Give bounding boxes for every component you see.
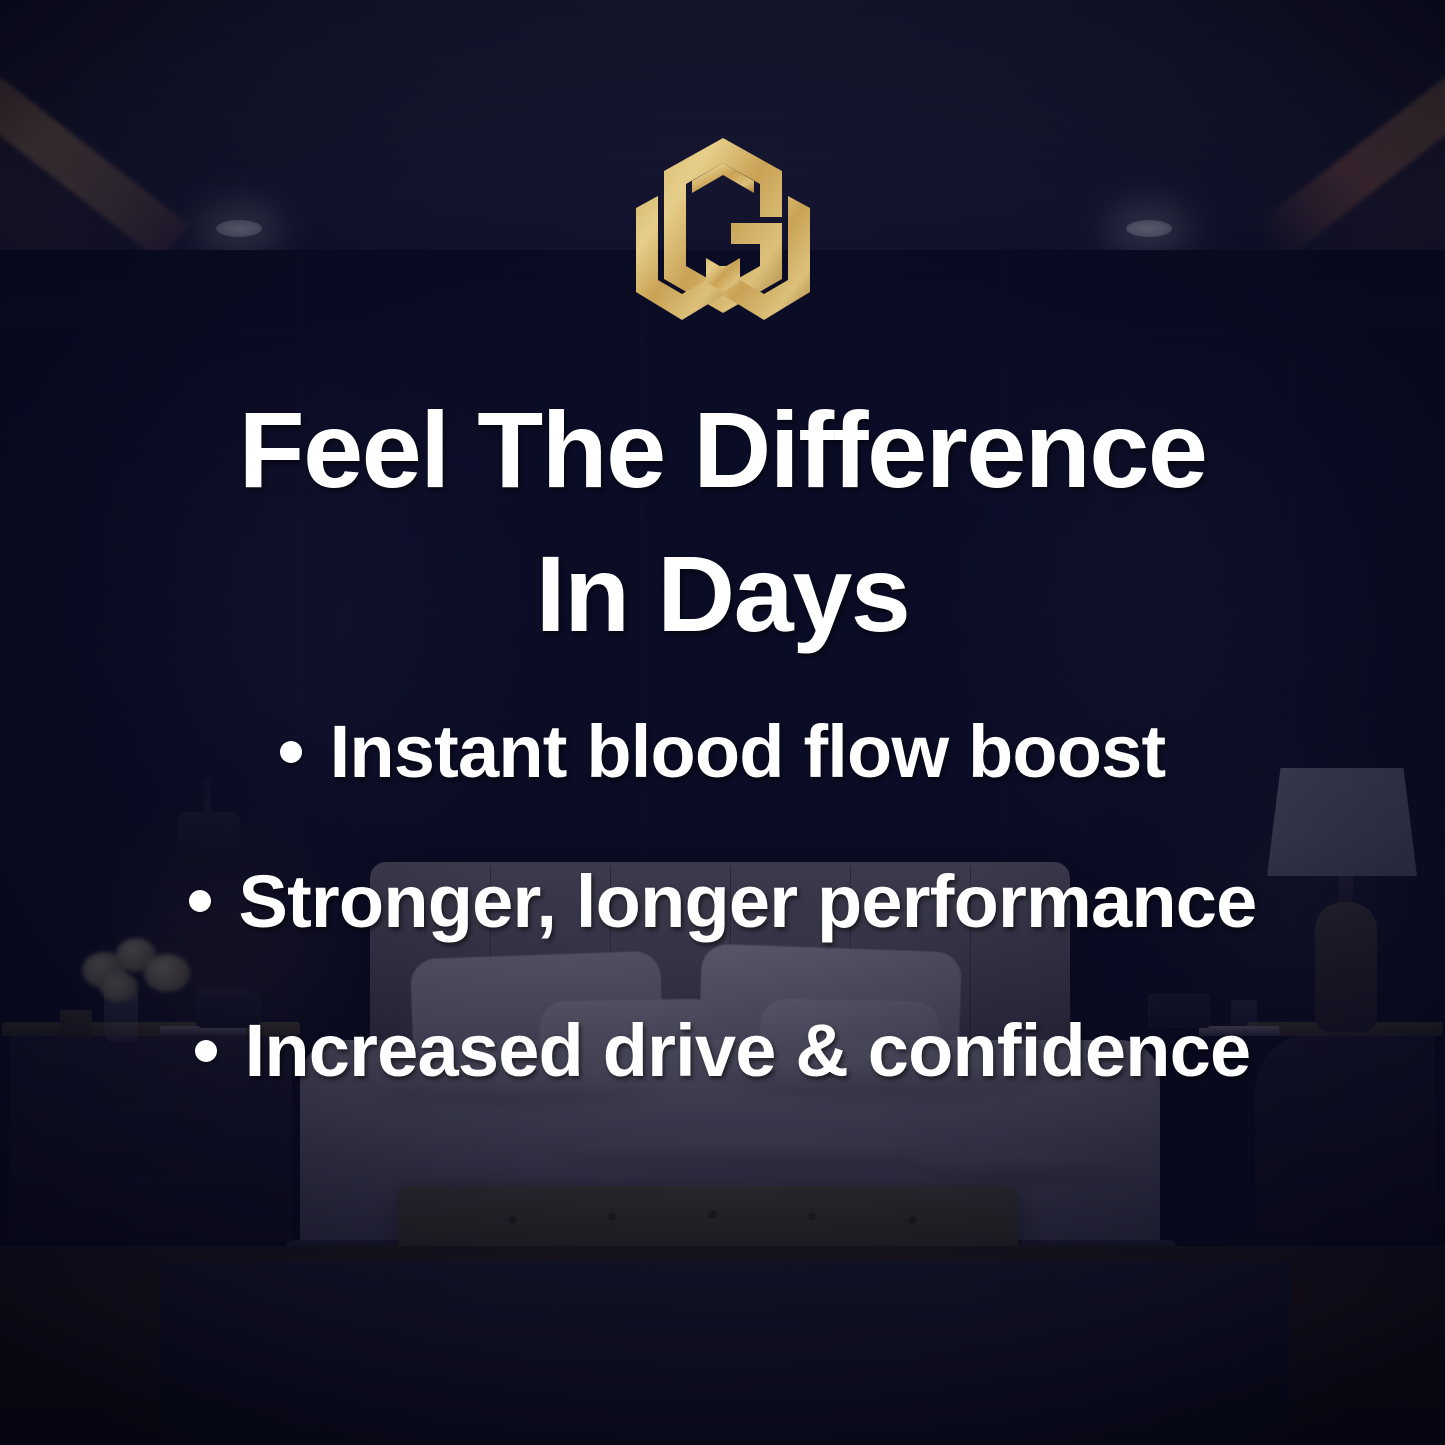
- list-item: Stronger, longer performance: [53, 861, 1393, 942]
- list-item: Increased drive & confidence: [53, 1010, 1393, 1091]
- benefit-text: Stronger, longer performance: [239, 861, 1257, 942]
- headline-line-1: Feel The Difference: [239, 389, 1207, 510]
- bullet-dot-icon: [195, 1040, 217, 1062]
- brand-logo: [630, 132, 816, 332]
- bullet-dot-icon: [280, 741, 302, 763]
- gw-monogram-logo-icon: [630, 132, 816, 332]
- page-title: Feel The Difference In Days: [108, 378, 1338, 665]
- benefits-list: Instant blood flow boost Stronger, longe…: [53, 711, 1393, 1091]
- benefit-text: Instant blood flow boost: [330, 711, 1166, 792]
- bullet-dot-icon: [189, 890, 211, 912]
- benefit-text: Increased drive & confidence: [245, 1010, 1251, 1091]
- headline-line-2: In Days: [108, 522, 1338, 666]
- promo-image: Feel The Difference In Days Instant bloo…: [0, 0, 1445, 1445]
- list-item: Instant blood flow boost: [53, 711, 1393, 792]
